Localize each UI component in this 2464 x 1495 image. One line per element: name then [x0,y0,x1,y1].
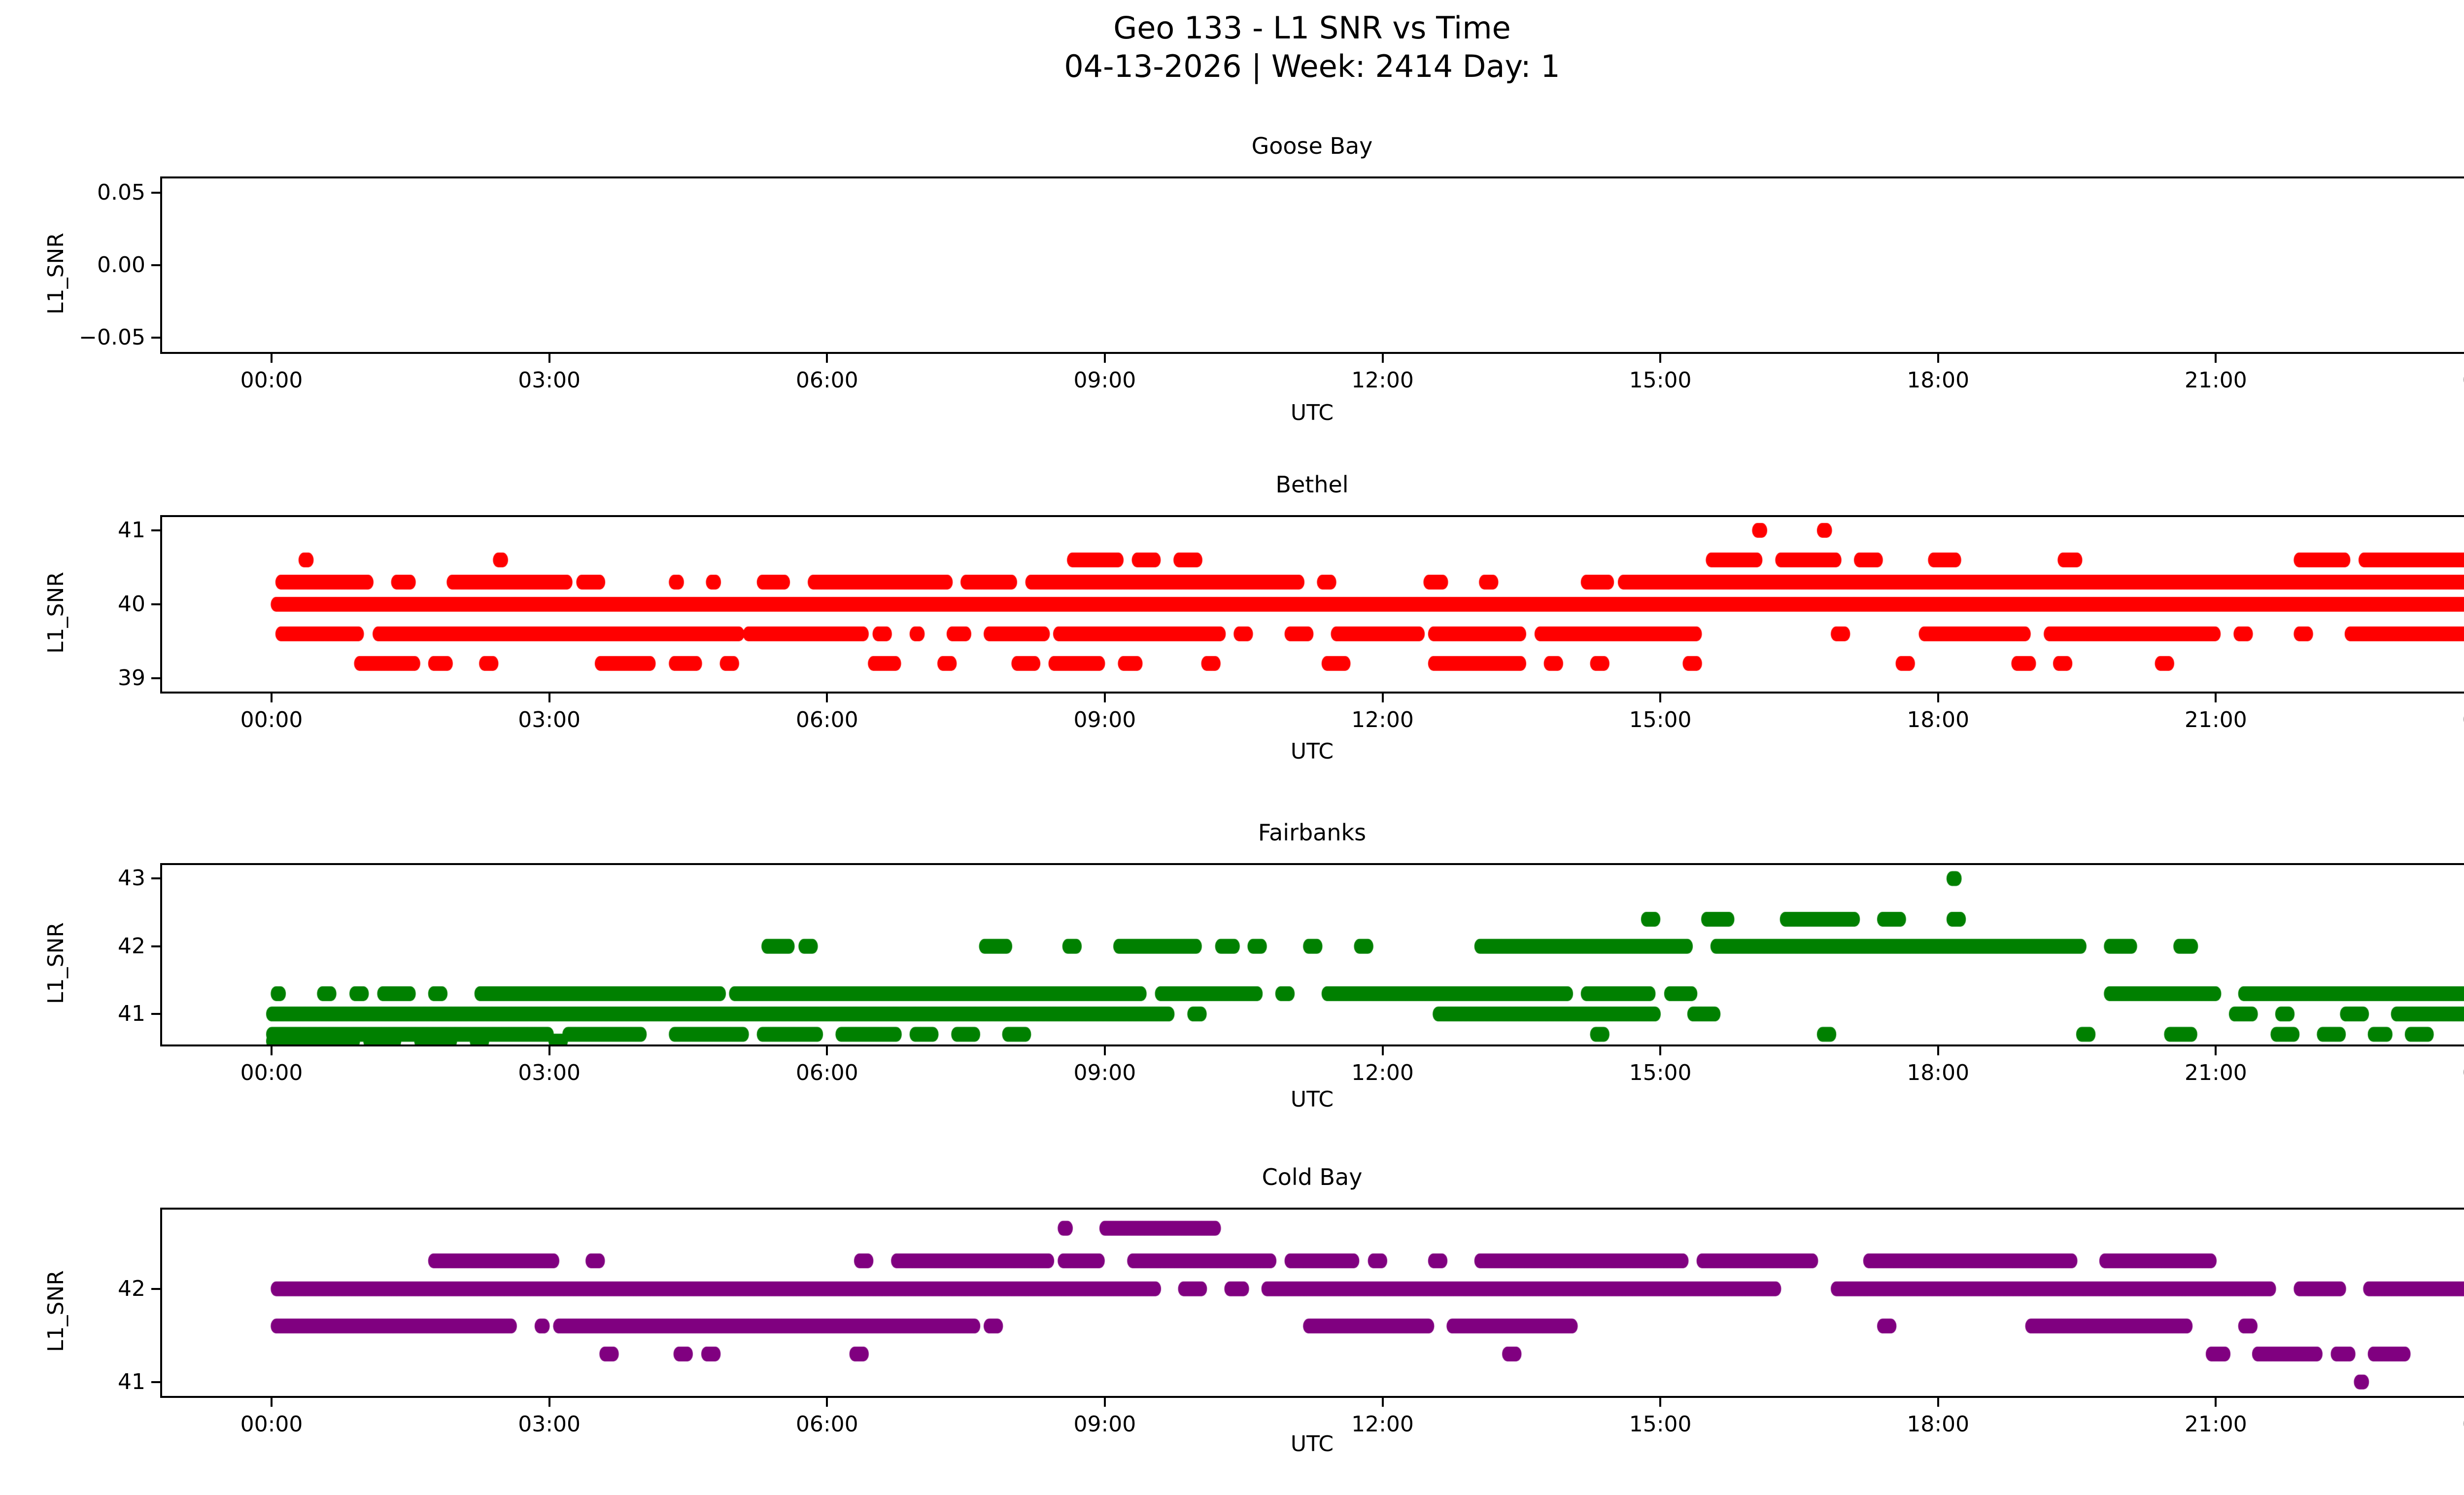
subplot-title-fairbanks: Fairbanks [0,819,2464,846]
ytick-label-cold-bay-0: 41 [17,1371,145,1393]
xtick-mark-cold-bay-2 [826,1398,828,1407]
xtick-label-fairbanks-6: 18:00 [1907,1062,1969,1084]
ytick-mark-fairbanks-0 [151,1013,160,1015]
xtick-label-cold-bay-6: 18:00 [1907,1414,1969,1435]
xtick-label-fairbanks-3: 09:00 [1073,1062,1136,1084]
xtick-mark-cold-bay-6 [1937,1398,1939,1407]
xtick-mark-goose-bay-2 [826,354,828,363]
xtick-mark-fairbanks-5 [1659,1046,1661,1055]
ytick-mark-fairbanks-1 [151,945,160,947]
subplot-title-cold-bay: Cold Bay [0,1163,2464,1191]
xtick-mark-fairbanks-7 [2215,1046,2217,1055]
xtick-label-fairbanks-1: 03:00 [518,1062,581,1084]
xtick-label-cold-bay-7: 21:00 [2185,1414,2247,1435]
ytick-mark-bethel-2 [151,529,160,531]
ytick-label-goose-bay-1: 0.00 [17,254,145,276]
ytick-mark-goose-bay-2 [151,192,160,194]
xtick-label-goose-bay-8: 00:00 [2463,370,2464,391]
ytick-label-bethel-1: 40 [17,593,145,615]
xtick-mark-cold-bay-0 [271,1398,273,1407]
subplot-title-bethel: Bethel [0,471,2464,498]
xtick-label-goose-bay-6: 18:00 [1907,370,1969,391]
xtick-label-fairbanks-7: 21:00 [2185,1062,2247,1084]
ylabel-fairbanks: L1_SNR [45,922,67,1004]
xtick-mark-bethel-1 [548,694,550,702]
xtick-mark-cold-bay-3 [1104,1398,1106,1407]
xtick-label-bethel-8: 00:00 [2463,709,2464,731]
xtick-mark-bethel-4 [1382,694,1384,702]
xtick-mark-cold-bay-4 [1382,1398,1384,1407]
figure-title-line1: Geo 133 - L1 SNR vs Time [0,9,2464,47]
xtick-mark-goose-bay-7 [2215,354,2217,363]
xtick-mark-fairbanks-0 [271,1046,273,1055]
xtick-mark-fairbanks-2 [826,1046,828,1055]
xtick-label-goose-bay-7: 21:00 [2185,370,2247,391]
ytick-mark-bethel-1 [151,603,160,605]
xtick-mark-bethel-7 [2215,694,2217,702]
xtick-mark-goose-bay-4 [1382,354,1384,363]
xtick-label-goose-bay-2: 06:00 [796,370,858,391]
xtick-label-bethel-3: 09:00 [1073,709,1136,731]
figure-title-line2: 04-13-2026 | Week: 2414 Day: 1 [0,47,2464,86]
ytick-mark-goose-bay-0 [151,337,160,339]
xtick-mark-fairbanks-1 [548,1046,550,1055]
ylabel-cold-bay: L1_SNR [45,1270,67,1352]
xtick-mark-goose-bay-1 [548,354,550,363]
xtick-mark-bethel-3 [1104,694,1106,702]
xtick-mark-fairbanks-4 [1382,1046,1384,1055]
subplot-title-goose-bay: Goose Bay [0,132,2464,160]
ytick-label-fairbanks-1: 42 [17,936,145,957]
xtick-label-cold-bay-0: 00:00 [240,1414,303,1435]
scatter-plot-area-bethel [162,517,2464,692]
scatter-plot-area-fairbanks [162,865,2464,1044]
xtick-label-bethel-0: 00:00 [240,709,303,731]
xtick-label-fairbanks-2: 06:00 [796,1062,858,1084]
ytick-label-cold-bay-1: 42 [17,1278,145,1300]
xtick-label-bethel-7: 21:00 [2185,709,2247,731]
ylabel-bethel: L1_SNR [45,572,67,654]
ytick-mark-cold-bay-1 [151,1288,160,1290]
xtick-label-cold-bay-2: 06:00 [796,1414,858,1435]
ytick-label-bethel-0: 39 [17,667,145,689]
scatter-plot-area-cold-bay [162,1210,2464,1396]
xtick-mark-bethel-5 [1659,694,1661,702]
xtick-label-cold-bay-1: 03:00 [518,1414,581,1435]
ytick-mark-bethel-0 [151,677,160,679]
xtick-label-fairbanks-0: 00:00 [240,1062,303,1084]
xtick-label-fairbanks-4: 12:00 [1351,1062,1414,1084]
xtick-label-bethel-5: 15:00 [1629,709,1692,731]
xtick-mark-fairbanks-3 [1104,1046,1106,1055]
xtick-mark-goose-bay-6 [1937,354,1939,363]
ytick-mark-fairbanks-2 [151,877,160,879]
xtick-label-bethel-2: 06:00 [796,709,858,731]
xtick-mark-bethel-6 [1937,694,1939,702]
xtick-label-goose-bay-5: 15:00 [1629,370,1692,391]
xtick-mark-goose-bay-0 [271,354,273,363]
ytick-label-goose-bay-0: −0.05 [17,327,145,348]
xtick-label-cold-bay-3: 09:00 [1073,1414,1136,1435]
xtick-mark-fairbanks-6 [1937,1046,1939,1055]
ytick-mark-cold-bay-0 [151,1381,160,1383]
xtick-label-bethel-4: 12:00 [1351,709,1414,731]
xlabel-cold-bay: UTC [0,1433,2464,1455]
ytick-label-fairbanks-2: 43 [17,868,145,889]
xlabel-goose-bay: UTC [0,402,2464,424]
figure-canvas: Geo 133 - L1 SNR vs Time 04-13-2026 | We… [0,0,2464,1495]
scatter-plot-area-goose-bay [162,178,2464,352]
xtick-mark-goose-bay-3 [1104,354,1106,363]
xtick-label-fairbanks-5: 15:00 [1629,1062,1692,1084]
xlabel-bethel: UTC [0,741,2464,763]
xtick-label-goose-bay-1: 03:00 [518,370,581,391]
xtick-mark-cold-bay-7 [2215,1398,2217,1407]
xtick-label-cold-bay-5: 15:00 [1629,1414,1692,1435]
ytick-mark-goose-bay-1 [151,264,160,266]
ytick-label-goose-bay-2: 0.05 [17,182,145,204]
xtick-label-goose-bay-4: 12:00 [1351,370,1414,391]
xtick-label-bethel-6: 18:00 [1907,709,1969,731]
xtick-label-fairbanks-8: 00:00 [2463,1062,2464,1084]
xtick-label-goose-bay-3: 09:00 [1073,370,1136,391]
xtick-label-bethel-1: 03:00 [518,709,581,731]
xtick-mark-bethel-2 [826,694,828,702]
xlabel-fairbanks: UTC [0,1089,2464,1111]
ytick-label-fairbanks-0: 41 [17,1003,145,1025]
xtick-mark-bethel-0 [271,694,273,702]
ytick-label-bethel-2: 41 [17,520,145,541]
xtick-label-cold-bay-8: 00:00 [2463,1414,2464,1435]
xtick-mark-cold-bay-1 [548,1398,550,1407]
xtick-label-cold-bay-4: 12:00 [1351,1414,1414,1435]
xtick-mark-goose-bay-5 [1659,354,1661,363]
xtick-mark-cold-bay-5 [1659,1398,1661,1407]
ylabel-goose-bay: L1_SNR [45,233,67,314]
xtick-label-goose-bay-0: 00:00 [240,370,303,391]
